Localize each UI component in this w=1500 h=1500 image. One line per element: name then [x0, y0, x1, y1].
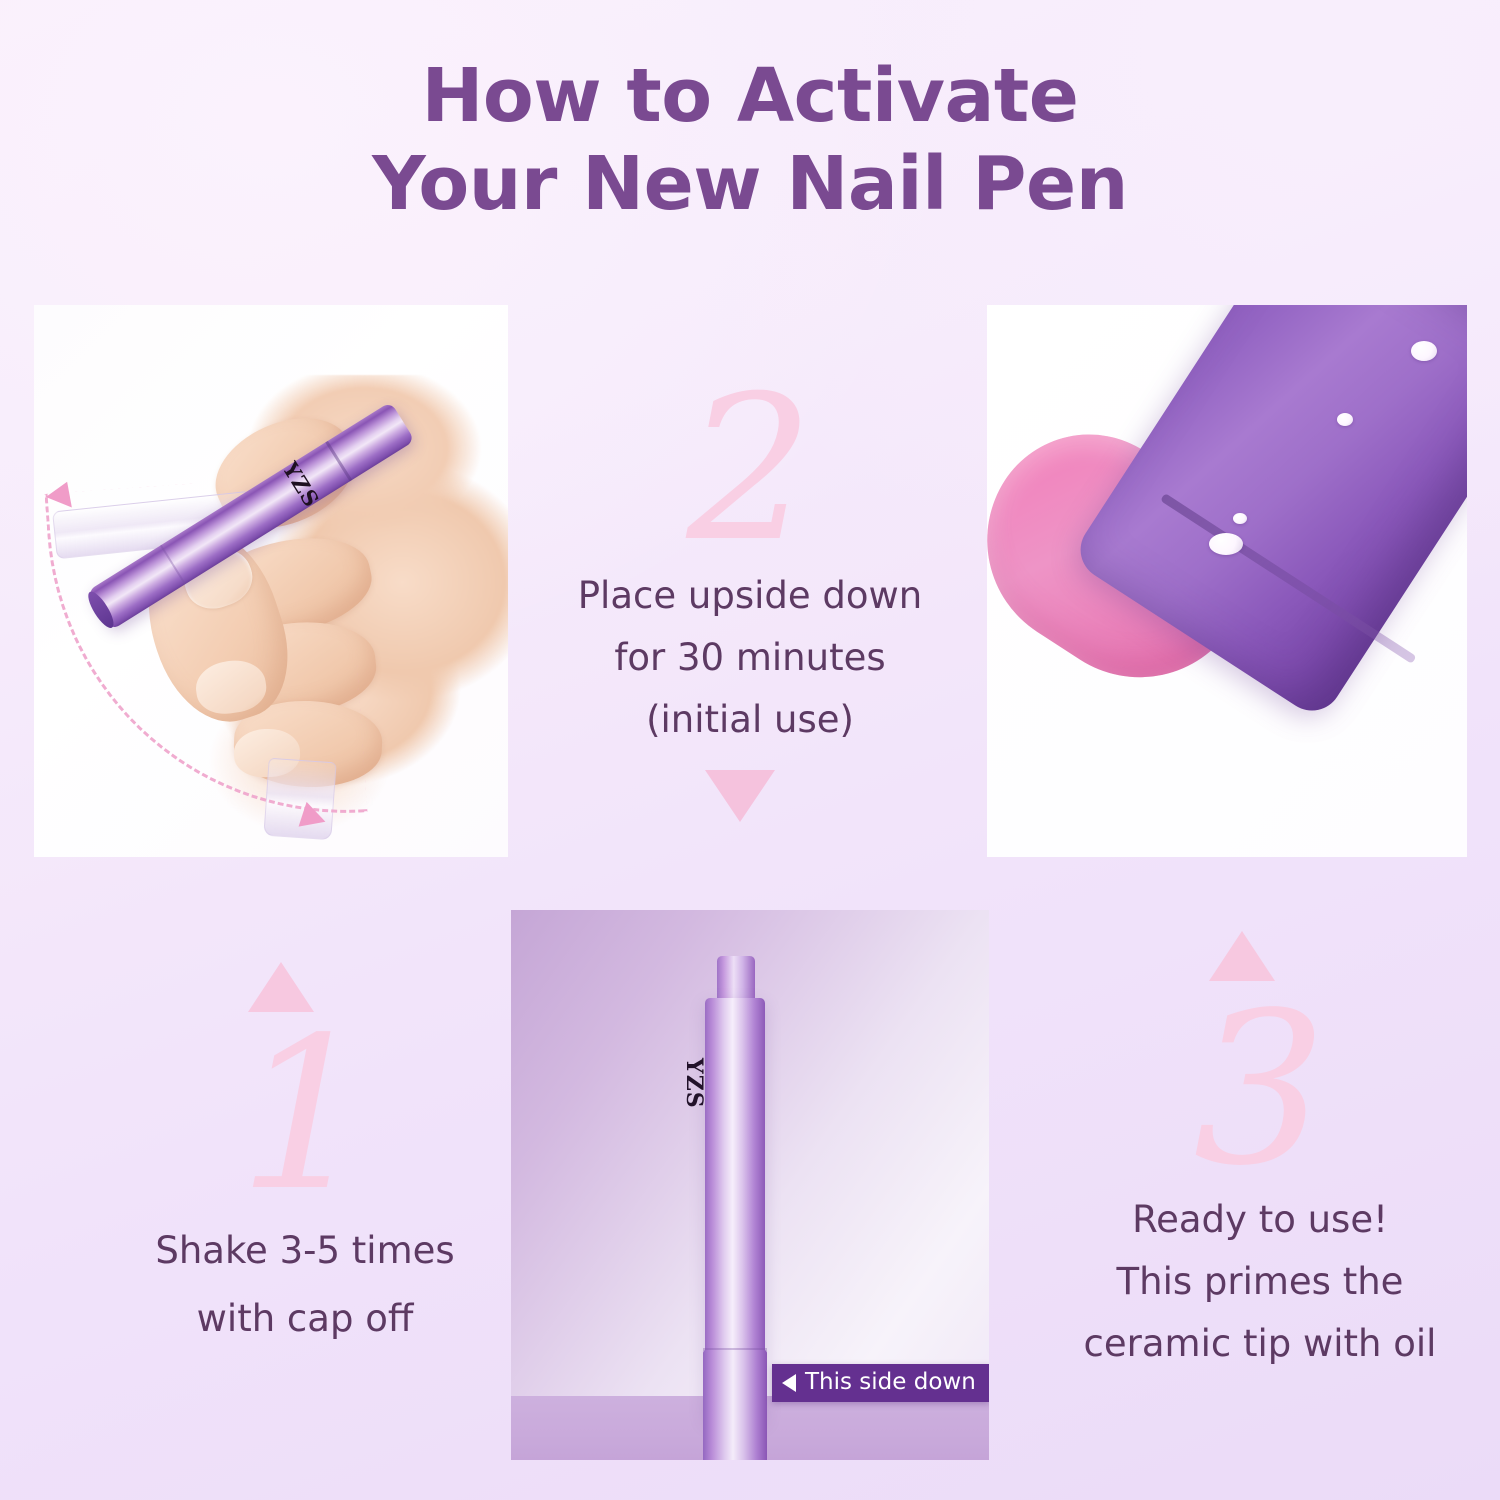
pen-seam: [160, 545, 186, 585]
page-title: How to Activate Your New Nail Pen: [0, 52, 1500, 228]
triangle-left-icon: [782, 1374, 796, 1392]
pen-cap-top: [717, 956, 755, 1002]
step-2-number: 2: [535, 380, 965, 560]
page-title-line-1: How to Activate: [0, 52, 1500, 140]
step-2-text-line-3: (initial use): [535, 694, 965, 746]
page-title-line-2: Your New Nail Pen: [0, 140, 1500, 228]
photo-standing-pen: YZS This side down: [511, 910, 989, 1460]
step-3-number: 3: [1045, 995, 1475, 1184]
photo-ceramic-tip-macro: [987, 305, 1467, 857]
pen-cap-seam: [325, 441, 352, 482]
this-side-down-label: This side down: [805, 1371, 976, 1394]
step-2-arrow-down-icon: [705, 770, 775, 822]
oil-droplet: [1233, 513, 1247, 524]
step-1-number: 1: [105, 1020, 505, 1209]
step-2: 2 Place upside down for 30 minutes (init…: [535, 380, 965, 746]
step-3-text-line-2: This primes the: [1045, 1256, 1475, 1308]
oil-droplet: [1337, 413, 1353, 426]
this-side-down-badge: This side down: [772, 1364, 989, 1402]
step-1-text-line-1: Shake 3-5 times: [105, 1225, 505, 1277]
step-1-text-line-2: with cap off: [105, 1293, 505, 1345]
step-1: 1 Shake 3-5 times with cap off: [105, 1020, 505, 1345]
step-3-text-line-3: ceramic tip with oil: [1045, 1318, 1475, 1370]
photo-hand-holding-pen: YZS: [34, 305, 508, 857]
step-3: 3 Ready to use! This primes the ceramic …: [1045, 995, 1475, 1370]
step-2-text-line-1: Place upside down: [535, 570, 965, 622]
oil-droplet: [1209, 533, 1243, 555]
oil-droplet: [1411, 341, 1437, 361]
step-3-text-line-1: Ready to use!: [1045, 1194, 1475, 1246]
step-2-text-line-2: for 30 minutes: [535, 632, 965, 684]
brand-logo-text: YZS: [681, 1058, 707, 1109]
pen-lower-body: [703, 1350, 767, 1460]
